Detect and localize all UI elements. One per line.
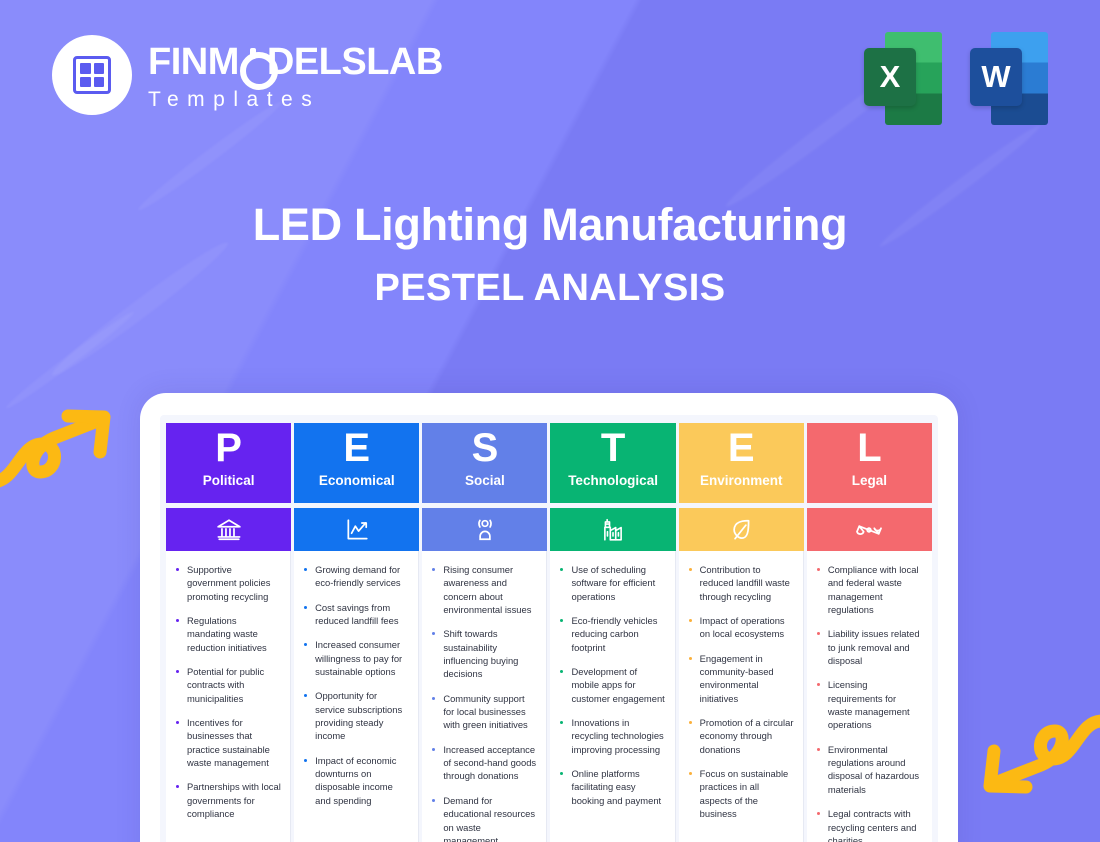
logo-mark	[52, 35, 132, 115]
bullet-list: Rising consumer awareness and concern ab…	[430, 563, 537, 842]
pestel-column-technological: T Technological	[550, 423, 675, 842]
pestel-column-economical: E Economical Growing demand for eco-frie…	[294, 423, 419, 842]
power-o-icon	[238, 48, 268, 78]
squiggle-arrow-down-left-icon	[969, 707, 1100, 804]
tablet-frame: P Political Supportive government polici…	[140, 393, 958, 842]
list-item: Innovations in recycling technologies im…	[558, 716, 665, 756]
header-label: Economical	[319, 473, 395, 493]
page-title: LED Lighting Manufacturing	[0, 198, 1100, 251]
brand-name-part1: FINM	[148, 41, 239, 83]
brand-text: FINMDELSLAB Templates	[148, 41, 443, 110]
list-item: Cost savings from reduced landfill fees	[302, 601, 409, 628]
list-item: Development of mobile apps for customer …	[558, 665, 665, 705]
column-body-social: Rising consumer awareness and concern ab…	[422, 551, 547, 842]
grid-squares-logo-icon	[73, 56, 111, 94]
column-body-legal: Compliance with local and federal waste …	[807, 551, 932, 842]
list-item: Partnerships with local governments for …	[174, 780, 281, 820]
list-item: Use of scheduling software for efficient…	[558, 563, 665, 603]
list-item: Liability issues related to junk removal…	[815, 627, 923, 667]
header-letter: L	[857, 427, 881, 469]
pestel-column-legal: L Legal Compliance with local a	[807, 423, 932, 842]
bullet-list: Contribution to reduced landfill waste t…	[687, 563, 794, 821]
office-format-icons: X W	[864, 28, 1048, 125]
pestel-column-political: P Political Supportive government polici…	[166, 423, 291, 842]
list-item: Eco-friendly vehicles reducing carbon fo…	[558, 614, 665, 654]
list-item: Online platforms facilitating easy booki…	[558, 767, 665, 807]
column-header-economical[interactable]: E Economical	[294, 423, 419, 503]
bullet-list: Use of scheduling software for efficient…	[558, 563, 665, 807]
list-item: Impact of economic downturns on disposab…	[302, 754, 409, 807]
header-label: Social	[465, 473, 505, 493]
list-item: Focus on sustainable practices in all as…	[687, 767, 794, 820]
list-item: Community support for local businesses w…	[430, 692, 537, 732]
pestel-column-social: S Social Rising consumer awaren	[422, 423, 547, 842]
word-badge: W	[970, 48, 1022, 106]
scales-of-justice-icon	[807, 508, 932, 551]
column-header-political[interactable]: P Political	[166, 423, 291, 503]
list-item: Licensing requirements for waste managem…	[815, 678, 923, 731]
list-item: Demand for educational resources on wast…	[430, 794, 537, 842]
list-item: Regulations mandating waste reduction in…	[174, 614, 281, 654]
excel-icon[interactable]: X	[864, 28, 942, 125]
bullet-list: Growing demand for eco-friendly services…	[302, 563, 409, 807]
pestel-column-environment: E Environment Contribution to reduced la…	[679, 423, 804, 842]
people-group-icon	[422, 508, 547, 551]
leaf-eco-icon	[679, 508, 804, 551]
brand-name-part2: DELSLAB	[267, 41, 443, 83]
list-item: Contribution to reduced landfill waste t…	[687, 563, 794, 603]
column-body-political: Supportive government policies promoting…	[166, 551, 291, 842]
list-item: Increased acceptance of second-hand good…	[430, 743, 537, 783]
brand-tagline: Templates	[148, 89, 443, 110]
line-chart-growth-icon	[294, 508, 419, 551]
excel-badge: X	[864, 48, 916, 106]
title-block: LED Lighting Manufacturing PESTEL ANALYS…	[0, 198, 1100, 310]
factory-technology-icon	[550, 508, 675, 551]
header-label: Technological	[568, 473, 658, 493]
header-letter: E	[343, 427, 370, 469]
tablet-screen: P Political Supportive government polici…	[160, 415, 938, 842]
header-letter: P	[215, 427, 242, 469]
list-item: Growing demand for eco-friendly services	[302, 563, 409, 590]
list-item: Promotion of a circular economy through …	[687, 716, 794, 756]
list-item: Potential for public contracts with muni…	[174, 665, 281, 705]
header-label: Legal	[852, 473, 887, 493]
word-icon[interactable]: W	[970, 28, 1048, 125]
column-header-legal[interactable]: L Legal	[807, 423, 932, 503]
list-item: Legal contracts with recycling centers a…	[815, 807, 923, 842]
brand-name: FINMDELSLAB	[148, 43, 443, 81]
squiggle-arrow-up-right-icon	[0, 404, 125, 501]
column-body-environment: Contribution to reduced landfill waste t…	[679, 551, 804, 842]
list-item: Incentives for businesses that practice …	[174, 716, 281, 769]
header-label: Political	[203, 473, 255, 493]
list-item: Supportive government policies promoting…	[174, 563, 281, 603]
list-item: Compliance with local and federal waste …	[815, 563, 923, 616]
brand-logo[interactable]: FINMDELSLAB Templates	[52, 35, 443, 115]
list-item: Opportunity for service subscriptions pr…	[302, 689, 409, 742]
bank-institution-icon	[166, 508, 291, 551]
list-item: Impact of operations on local ecosystems	[687, 614, 794, 641]
poster-canvas: FINMDELSLAB Templates X W LED Lighting M…	[0, 0, 1100, 842]
excel-letter: X	[880, 59, 901, 95]
word-letter: W	[981, 59, 1010, 95]
bullet-list: Supportive government policies promoting…	[174, 563, 281, 821]
header-letter: S	[472, 427, 499, 469]
list-item: Shift towards sustainability influencing…	[430, 627, 537, 680]
column-body-economical: Growing demand for eco-friendly services…	[294, 551, 419, 842]
pestel-table: P Political Supportive government polici…	[166, 423, 932, 842]
list-item: Increased consumer willingness to pay fo…	[302, 638, 409, 678]
column-header-social[interactable]: S Social	[422, 423, 547, 503]
list-item: Environmental regulations around disposa…	[815, 743, 923, 796]
list-item: Rising consumer awareness and concern ab…	[430, 563, 537, 616]
header-letter: E	[728, 427, 755, 469]
list-item: Engagement in community-based environmen…	[687, 652, 794, 705]
bullet-list: Compliance with local and federal waste …	[815, 563, 923, 842]
header-letter: T	[601, 427, 625, 469]
page-subtitle: PESTEL ANALYSIS	[0, 267, 1100, 310]
column-header-technological[interactable]: T Technological	[550, 423, 675, 503]
column-body-technological: Use of scheduling software for efficient…	[550, 551, 675, 842]
column-header-environment[interactable]: E Environment	[679, 423, 804, 503]
header-label: Environment	[700, 473, 783, 493]
